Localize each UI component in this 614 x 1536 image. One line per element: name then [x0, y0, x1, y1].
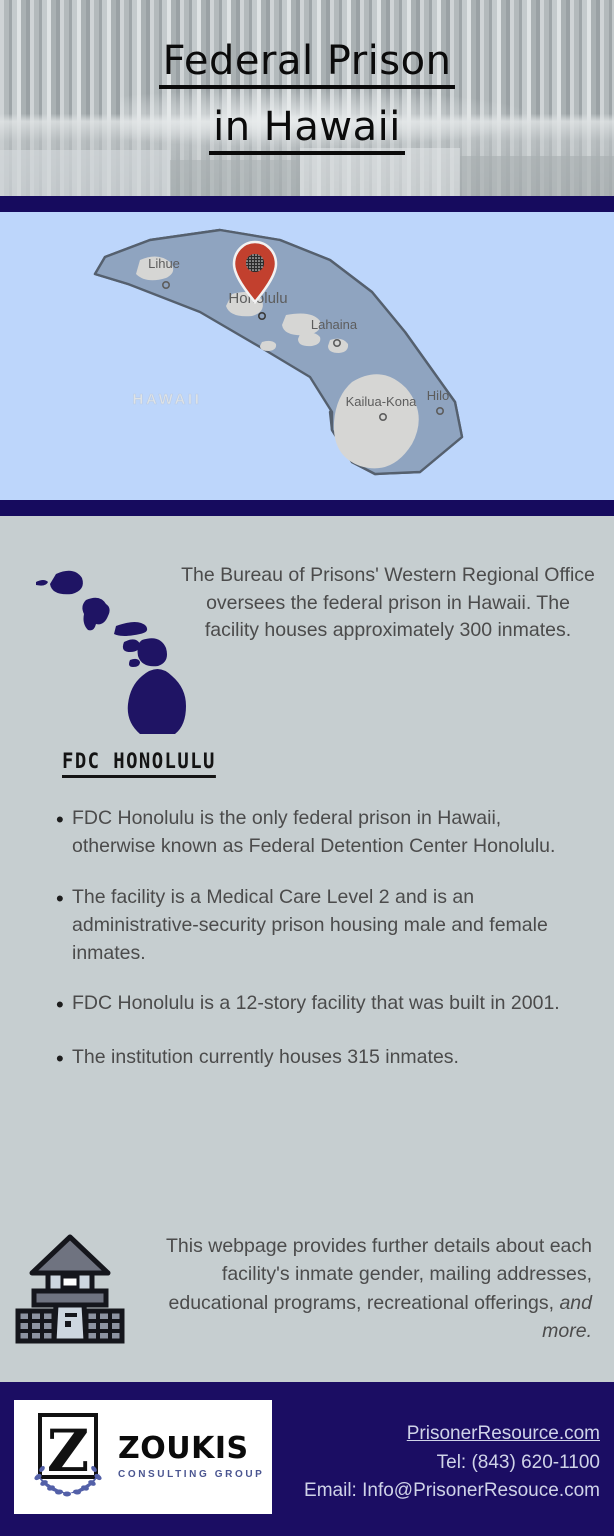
list-item: • The facility is a Medical Care Level 2…	[46, 883, 586, 968]
infographic-page: Federal Prison in Hawaii	[0, 0, 614, 1536]
facility-bullet-list: • FDC Honolulu is the only federal priso…	[46, 804, 586, 1096]
list-item-text: FDC Honolulu is the only federal prison …	[72, 804, 586, 861]
map-label-kailua-kona: Kailua-Kona	[346, 394, 418, 409]
closing-paragraph: This webpage provides further details ab…	[140, 1232, 614, 1345]
map-label-lihue: Lihue	[148, 256, 180, 271]
footer: Z	[0, 1382, 614, 1536]
page-title-line-2: in Hawaii	[209, 107, 405, 155]
bullet-marker-icon: •	[46, 804, 72, 861]
closing-section: This webpage provides further details ab…	[0, 1232, 614, 1345]
list-item: • The institution currently houses 315 i…	[46, 1043, 586, 1074]
page-title: Federal Prison in Hawaii	[0, 0, 614, 196]
hawaii-islands-silhouette-icon	[24, 564, 202, 734]
phone-number: Tel: (843) 620-1100	[437, 1452, 600, 1473]
contact-block: PrisonerResource.com Tel: (843) 620-1100…	[260, 1420, 600, 1506]
divider-bar-top	[0, 196, 614, 212]
guard-tower-svg	[12, 1233, 128, 1345]
logo-wordmark: ZOUKIS CONSULTING GROUP	[118, 1434, 264, 1480]
facility-heading: FDC HONOLULU	[62, 749, 216, 778]
bullet-marker-icon: •	[46, 1043, 72, 1074]
map-label-lahaina: Lahaina	[311, 317, 358, 332]
guard-tower-icon	[0, 1233, 140, 1345]
bullet-marker-icon: •	[46, 883, 72, 968]
list-item: • FDC Honolulu is a 12-story facility th…	[46, 989, 586, 1020]
list-item-text: The institution currently houses 315 inm…	[72, 1043, 586, 1074]
islands-svg	[24, 564, 202, 734]
logo-title: ZOUKIS	[118, 1434, 264, 1464]
email-address: Email: Info@PrisonerResouce.com	[304, 1480, 600, 1501]
page-title-line-1: Federal Prison	[159, 41, 456, 89]
hawaii-locator-map: Lihue Honolulu Lahaina Kailua-Kona Hilo …	[0, 212, 614, 500]
bullet-marker-icon: •	[46, 989, 72, 1020]
website-link[interactable]: PrisonerResource.com	[260, 1420, 600, 1449]
map-label-state: HAWAII	[133, 391, 202, 408]
content-area: The Bureau of Prisons' Western Regional …	[0, 516, 614, 1382]
logo-mark-icon: Z	[22, 1409, 114, 1505]
map-graphic: Lihue Honolulu Lahaina Kailua-Kona Hilo …	[0, 212, 614, 500]
divider-bar-bottom	[0, 500, 614, 516]
closing-text-main: This webpage provides further details ab…	[166, 1235, 592, 1314]
list-item-text: FDC Honolulu is a 12-story facility that…	[72, 989, 586, 1020]
intro-paragraph: The Bureau of Prisons' Western Regional …	[178, 562, 598, 645]
logo-subtitle: CONSULTING GROUP	[118, 1469, 264, 1480]
map-label-hilo: Hilo	[427, 388, 449, 403]
list-item: • FDC Honolulu is the only federal priso…	[46, 804, 586, 861]
list-item-text: The facility is a Medical Care Level 2 a…	[72, 883, 586, 968]
logo-letter: Z	[47, 1417, 89, 1485]
zoukis-logo[interactable]: Z	[14, 1400, 272, 1514]
logo-z-wreath-svg: Z	[22, 1409, 114, 1505]
header-banner: Federal Prison in Hawaii	[0, 0, 614, 196]
